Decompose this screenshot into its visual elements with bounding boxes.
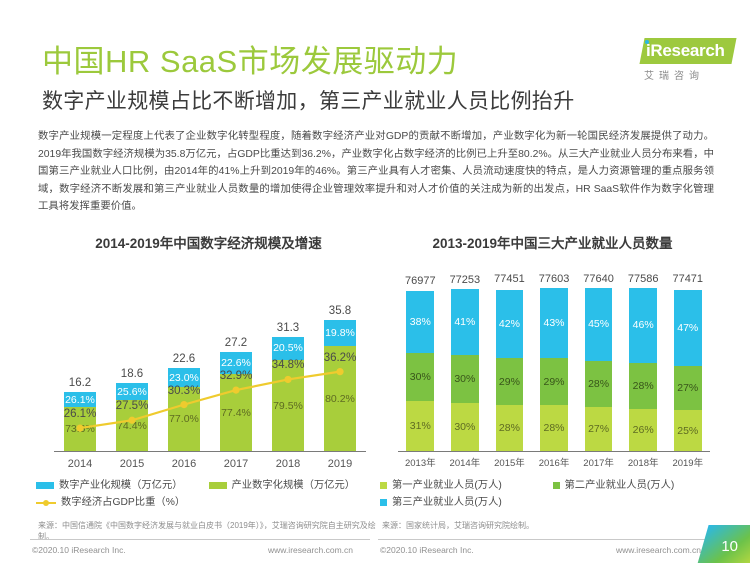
bar-segment-label: 80.2% (325, 393, 355, 405)
bar-segment-label: 46% (633, 319, 654, 331)
bar-segment: 73.9% (64, 407, 96, 451)
bar-stack[interactable]: 43%29%28% (540, 288, 568, 451)
x-axis-tick-label: 2014 (54, 454, 106, 474)
bar-segment: 45% (585, 288, 613, 362)
x-axis-tick-label: 2019年 (665, 454, 710, 474)
bar-segment: 30% (406, 353, 434, 401)
legend-square-marker (553, 482, 560, 489)
bar-segment-label: 31% (410, 420, 431, 432)
bar-total-label: 77586 (621, 273, 666, 285)
chart-source-right: 来源：国家统计局，艾瑞咨询研究院绘制。 (382, 520, 722, 531)
bar-segment: 41% (451, 289, 479, 355)
logo-wordmark: iResearch (646, 40, 738, 62)
bar-segment: 30% (451, 355, 479, 403)
page-number-corner: 10 (692, 525, 750, 563)
footer-website-left: www.iresearch.com.cn (268, 545, 353, 555)
bar-segment-label: 29% (544, 376, 565, 388)
page-subtitle: 数字产业规模占比不断增加，第三产业就业人员比例抬升 (42, 85, 575, 115)
bar-total-label: 77451 (487, 273, 532, 285)
bar-segment: 25.6% (116, 383, 148, 400)
bar-series-left: 26.1%73.9%16.225.6%74.4%18.623.0%77.0%22… (54, 261, 366, 451)
bar-segment: 29% (496, 358, 524, 405)
legend-item[interactable]: 第二产业就业人员(万人) (553, 478, 726, 493)
body-paragraph: 数字产业规模一定程度上代表了企业数字化转型程度，随着数字经济产业对GDP的贡献不… (38, 128, 714, 216)
bar-group: 19.8%80.2%35.8 (314, 261, 366, 451)
bar-segment-label: 25.6% (117, 386, 147, 398)
legend-item[interactable]: 产业数字化规模（万亿元） (209, 478, 382, 493)
bar-segment-label: 74.4% (117, 420, 147, 432)
chart-plot-right: 38%30%31%7697741%30%30%7725342%29%28%774… (380, 254, 725, 476)
logo-chinese-name: 艾瑞咨询 (644, 67, 704, 82)
legend-color-swatch (209, 482, 227, 489)
bar-segment: 30% (451, 403, 479, 451)
bar-segment: 74.4% (116, 400, 148, 451)
legend-item[interactable]: 数字经济占GDP比重（%） (36, 495, 209, 510)
bar-stack[interactable]: 38%30%31% (406, 290, 434, 451)
bar-segment-label: 45% (588, 318, 609, 330)
bar-segment: 47% (674, 290, 702, 367)
legend-label: 第一产业就业人员(万人) (392, 478, 502, 493)
x-axis-tick-label: 2017年 (576, 454, 621, 474)
bar-segment-label: 73.9% (65, 423, 95, 435)
x-axis-tick-label: 2015 (106, 454, 158, 474)
legend-label: 数字经济占GDP比重（%） (61, 495, 185, 510)
bar-segment: 25% (674, 410, 702, 451)
legend-label: 第三产业就业人员(万人) (392, 495, 502, 510)
slide-footer: ©2020.10 iResearch Inc. www.iresearch.co… (0, 533, 750, 563)
bar-segment-label: 30% (454, 373, 475, 385)
bar-segment: 20.5% (272, 337, 304, 360)
chart-plot-left: 26.1%73.9%16.225.6%74.4%18.623.0%77.0%22… (36, 254, 381, 476)
chart-panel-left: 2014-2019年中国数字经济规模及增速 26.1%73.9%16.225.6… (36, 232, 381, 532)
bar-group: 20.5%79.5%31.3 (262, 261, 314, 451)
bar-segment-label: 42% (499, 318, 520, 330)
bar-segment-label: 29% (499, 376, 520, 388)
chart-legend-left: 数字产业化规模（万亿元）产业数字化规模（万亿元）数字经济占GDP比重（%） (36, 478, 381, 512)
bar-stack[interactable]: 41%30%30% (451, 289, 479, 451)
bar-total-label: 18.6 (106, 368, 158, 380)
x-axis-line (54, 451, 366, 452)
bar-stack[interactable]: 22.6%77.4% (220, 352, 252, 451)
bar-series-right: 38%30%31%7697741%30%30%7725342%29%28%774… (398, 261, 710, 451)
bar-segment-label: 28% (588, 378, 609, 390)
bar-segment-label: 79.5% (273, 400, 303, 412)
bar-total-label: 76977 (398, 275, 443, 287)
bar-segment: 27% (674, 366, 702, 410)
legend-row: 数字产业化规模（万亿元）产业数字化规模（万亿元） (36, 478, 381, 493)
x-axis-tick-label: 2017 (210, 454, 262, 474)
legend-row: 第一产业就业人员(万人)第二产业就业人员(万人) (380, 478, 725, 493)
page-title: 中国HR SaaS市场发展驱动力 (42, 36, 458, 81)
bar-stack[interactable]: 46%28%26% (629, 288, 657, 451)
bar-group: 41%30%30%77253 (443, 261, 488, 451)
bar-segment-label: 28% (499, 422, 520, 434)
x-axis-line (398, 451, 710, 452)
chart-panel-right: 2013-2019年中国三大产业就业人员数量 38%30%31%7697741%… (380, 232, 725, 532)
bar-segment-label: 30% (410, 371, 431, 383)
footer-divider-left (30, 539, 370, 540)
x-axis-tick-label: 2018 (262, 454, 314, 474)
bar-total-label: 35.8 (314, 305, 366, 317)
bar-total-label: 27.2 (210, 337, 262, 349)
bar-segment-label: 19.8% (325, 327, 355, 339)
bar-segment: 38% (406, 291, 434, 352)
bar-total-label: 77471 (665, 273, 710, 285)
legend-item[interactable]: 第三产业就业人员(万人) (380, 495, 553, 510)
bar-segment: 28% (496, 405, 524, 451)
bar-group: 38%30%31%76977 (398, 261, 443, 451)
bar-segment: 26.1% (64, 392, 96, 407)
bar-stack[interactable]: 26.1%73.9% (64, 392, 96, 451)
bar-segment: 46% (629, 288, 657, 363)
x-axis-tick-labels-right: 2013年2014年2015年2016年2017年2018年2019年 (398, 454, 710, 474)
bar-segment-label: 30% (454, 421, 475, 433)
bar-stack[interactable]: 47%27%25% (674, 288, 702, 451)
x-axis-tick-label: 2018年 (621, 454, 666, 474)
bar-segment: 28% (585, 361, 613, 407)
bar-segment: 19.8% (324, 320, 356, 346)
footer-copyright-right: ©2020.10 iResearch Inc. (380, 545, 474, 555)
bar-segment-label: 28% (544, 422, 565, 434)
bar-segment-label: 27% (677, 382, 698, 394)
bar-total-label: 22.6 (158, 353, 210, 365)
legend-label: 产业数字化规模（万亿元） (232, 478, 356, 493)
bar-group: 43%29%28%77603 (532, 261, 577, 451)
page-number: 10 (721, 538, 738, 555)
bar-total-label: 77640 (576, 273, 621, 285)
legend-item[interactable]: 第一产业就业人员(万人) (380, 478, 553, 493)
bar-total-label: 77603 (532, 273, 577, 285)
x-axis-tick-label: 2016年 (532, 454, 577, 474)
bar-group: 23.0%77.0%22.6 (158, 261, 210, 451)
bar-segment: 26% (629, 409, 657, 451)
legend-row: 第三产业就业人员(万人) (380, 495, 725, 510)
legend-label: 数字产业化规模（万亿元） (59, 478, 183, 493)
bar-group: 25.6%74.4%18.6 (106, 261, 158, 451)
bar-group: 47%27%25%77471 (665, 261, 710, 451)
bar-segment: 28% (629, 363, 657, 409)
bar-group: 45%28%27%77640 (576, 261, 621, 451)
x-axis-tick-labels-left: 201420152016201720182019 (54, 454, 366, 474)
legend-label: 第二产业就业人员(万人) (565, 478, 675, 493)
chart-title-left: 2014-2019年中国数字经济规模及增速 (36, 232, 381, 252)
bar-segment: 28% (540, 405, 568, 451)
bar-stack[interactable]: 19.8%80.2% (324, 320, 356, 451)
x-axis-tick-label: 2015年 (487, 454, 532, 474)
bar-segment-label: 27% (588, 423, 609, 435)
legend-square-marker (380, 499, 387, 506)
x-axis-tick-label: 2013年 (398, 454, 443, 474)
bar-segment: 79.5% (272, 360, 304, 451)
bar-segment-label: 26.1% (65, 394, 95, 406)
bar-segment: 43% (540, 288, 568, 358)
slide-header: 中国HR SaaS市场发展驱动力 数字产业规模占比不断增加，第三产业就业人员比例… (0, 0, 750, 122)
bar-segment-label: 22.6% (221, 357, 251, 369)
bar-segment: 80.2% (324, 346, 356, 451)
bar-group: 46%28%26%77586 (621, 261, 666, 451)
legend-color-swatch (36, 482, 54, 489)
legend-line-marker (36, 498, 56, 507)
bar-group: 42%29%28%77451 (487, 261, 532, 451)
bar-total-label: 16.2 (54, 377, 106, 389)
bar-segment-label: 28% (633, 380, 654, 392)
bar-stack[interactable]: 25.6%74.4% (116, 383, 148, 451)
bar-stack[interactable]: 23.0%77.0% (168, 368, 200, 451)
chart-legend-right: 第一产业就业人员(万人)第二产业就业人员(万人)第三产业就业人员(万人) (380, 478, 725, 512)
bar-segment: 22.6% (220, 352, 252, 374)
bar-segment: 23.0% (168, 368, 200, 387)
chart-title-right: 2013-2019年中国三大产业就业人员数量 (380, 232, 725, 252)
bar-segment-label: 77.0% (169, 413, 199, 425)
footer-copyright-left: ©2020.10 iResearch Inc. (32, 545, 126, 555)
bar-stack[interactable]: 45%28%27% (585, 288, 613, 451)
bar-group: 26.1%73.9%16.2 (54, 261, 106, 451)
bar-segment-label: 77.4% (221, 407, 251, 419)
x-axis-tick-label: 2014年 (443, 454, 488, 474)
bar-segment-label: 38% (410, 316, 431, 328)
bar-segment: 31% (406, 401, 434, 451)
bar-segment-label: 23.0% (169, 372, 199, 384)
slide-page: 中国HR SaaS市场发展驱动力 数字产业规模占比不断增加，第三产业就业人员比例… (0, 0, 750, 563)
bar-segment-label: 26% (633, 424, 654, 436)
bar-segment: 77.4% (220, 374, 252, 451)
bar-segment-label: 41% (454, 316, 475, 328)
bar-segment-label: 20.5% (273, 342, 303, 354)
bar-segment-label: 25% (677, 425, 698, 437)
legend-item[interactable]: 数字产业化规模（万亿元） (36, 478, 209, 493)
bar-group: 22.6%77.4%27.2 (210, 261, 262, 451)
x-axis-tick-label: 2019 (314, 454, 366, 474)
bar-stack[interactable]: 42%29%28% (496, 288, 524, 451)
bar-segment-label: 47% (677, 322, 698, 334)
legend-row: 数字经济占GDP比重（%） (36, 495, 381, 510)
bar-segment: 27% (585, 407, 613, 451)
bar-stack[interactable]: 20.5%79.5% (272, 337, 304, 451)
bar-segment-label: 43% (544, 317, 565, 329)
legend-square-marker (380, 482, 387, 489)
bar-segment: 29% (540, 358, 568, 405)
bar-segment: 77.0% (168, 387, 200, 451)
bar-segment: 42% (496, 290, 524, 358)
footer-divider-right (378, 539, 718, 540)
x-axis-tick-label: 2016 (158, 454, 210, 474)
bar-total-label: 31.3 (262, 322, 314, 334)
bar-total-label: 77253 (443, 274, 488, 286)
footer-website-right: www.iresearch.com.cn (616, 545, 701, 555)
iresearch-logo: iResearch 艾瑞咨询 (638, 38, 736, 86)
